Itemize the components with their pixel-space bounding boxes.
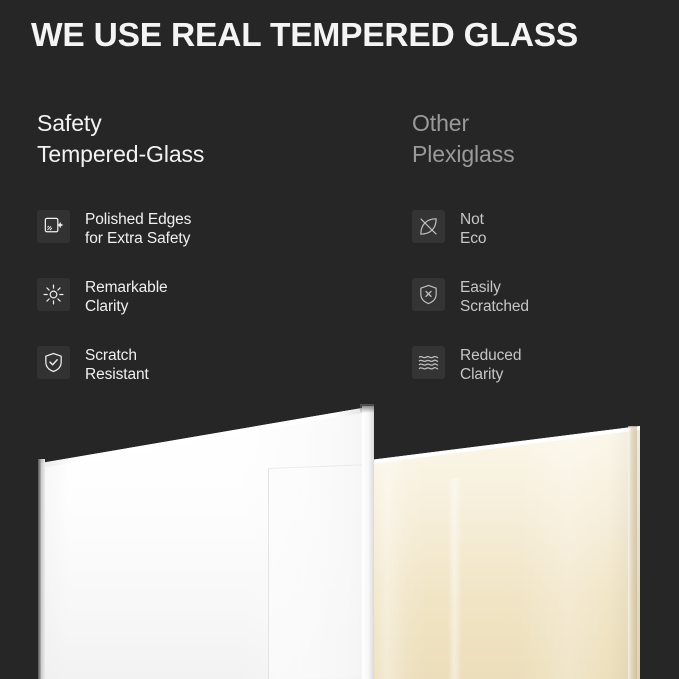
feature-label: Reduced Clarity [460, 344, 521, 384]
polished-edge-sparkle-icon [37, 210, 70, 243]
column-title-left: Safety Tempered-Glass [37, 108, 377, 170]
feature-list-left: Polished Edges for Extra Safety [37, 208, 377, 412]
plexiglass-panel [368, 396, 640, 679]
feature-row: Remarkable Clarity [37, 276, 377, 344]
feature-label: Not Eco [460, 208, 486, 248]
feature-row: Easily Scratched [412, 276, 674, 344]
sun-clarity-icon [37, 278, 70, 311]
shield-x-icon [412, 278, 445, 311]
column-other-plexiglass: Other Plexiglass Not Eco [412, 108, 674, 170]
feature-label: Polished Edges for Extra Safety [85, 208, 191, 248]
column-safety-tempered-glass: Safety Tempered-Glass Polished Edges for… [37, 108, 377, 170]
leaf-crossed-out-icon [412, 210, 445, 243]
page-title: WE USE REAL TEMPERED GLASS [31, 16, 659, 56]
feature-label: Easily Scratched [460, 276, 529, 316]
feature-row: Polished Edges for Extra Safety [37, 208, 377, 276]
shield-check-icon [37, 346, 70, 379]
feature-label: Remarkable Clarity [85, 276, 168, 316]
feature-row: Not Eco [412, 208, 674, 276]
wavy-lines-icon [412, 346, 445, 379]
column-title-right: Other Plexiglass [412, 108, 674, 170]
feature-label: Scratch Resistant [85, 344, 149, 384]
feature-list-right: Not Eco Easily Scratched [412, 208, 674, 412]
tempered-glass-panel [38, 396, 374, 679]
product-photo [0, 396, 679, 679]
product-comparison-infographic: WE USE REAL TEMPERED GLASS Safety Temper… [0, 0, 679, 679]
